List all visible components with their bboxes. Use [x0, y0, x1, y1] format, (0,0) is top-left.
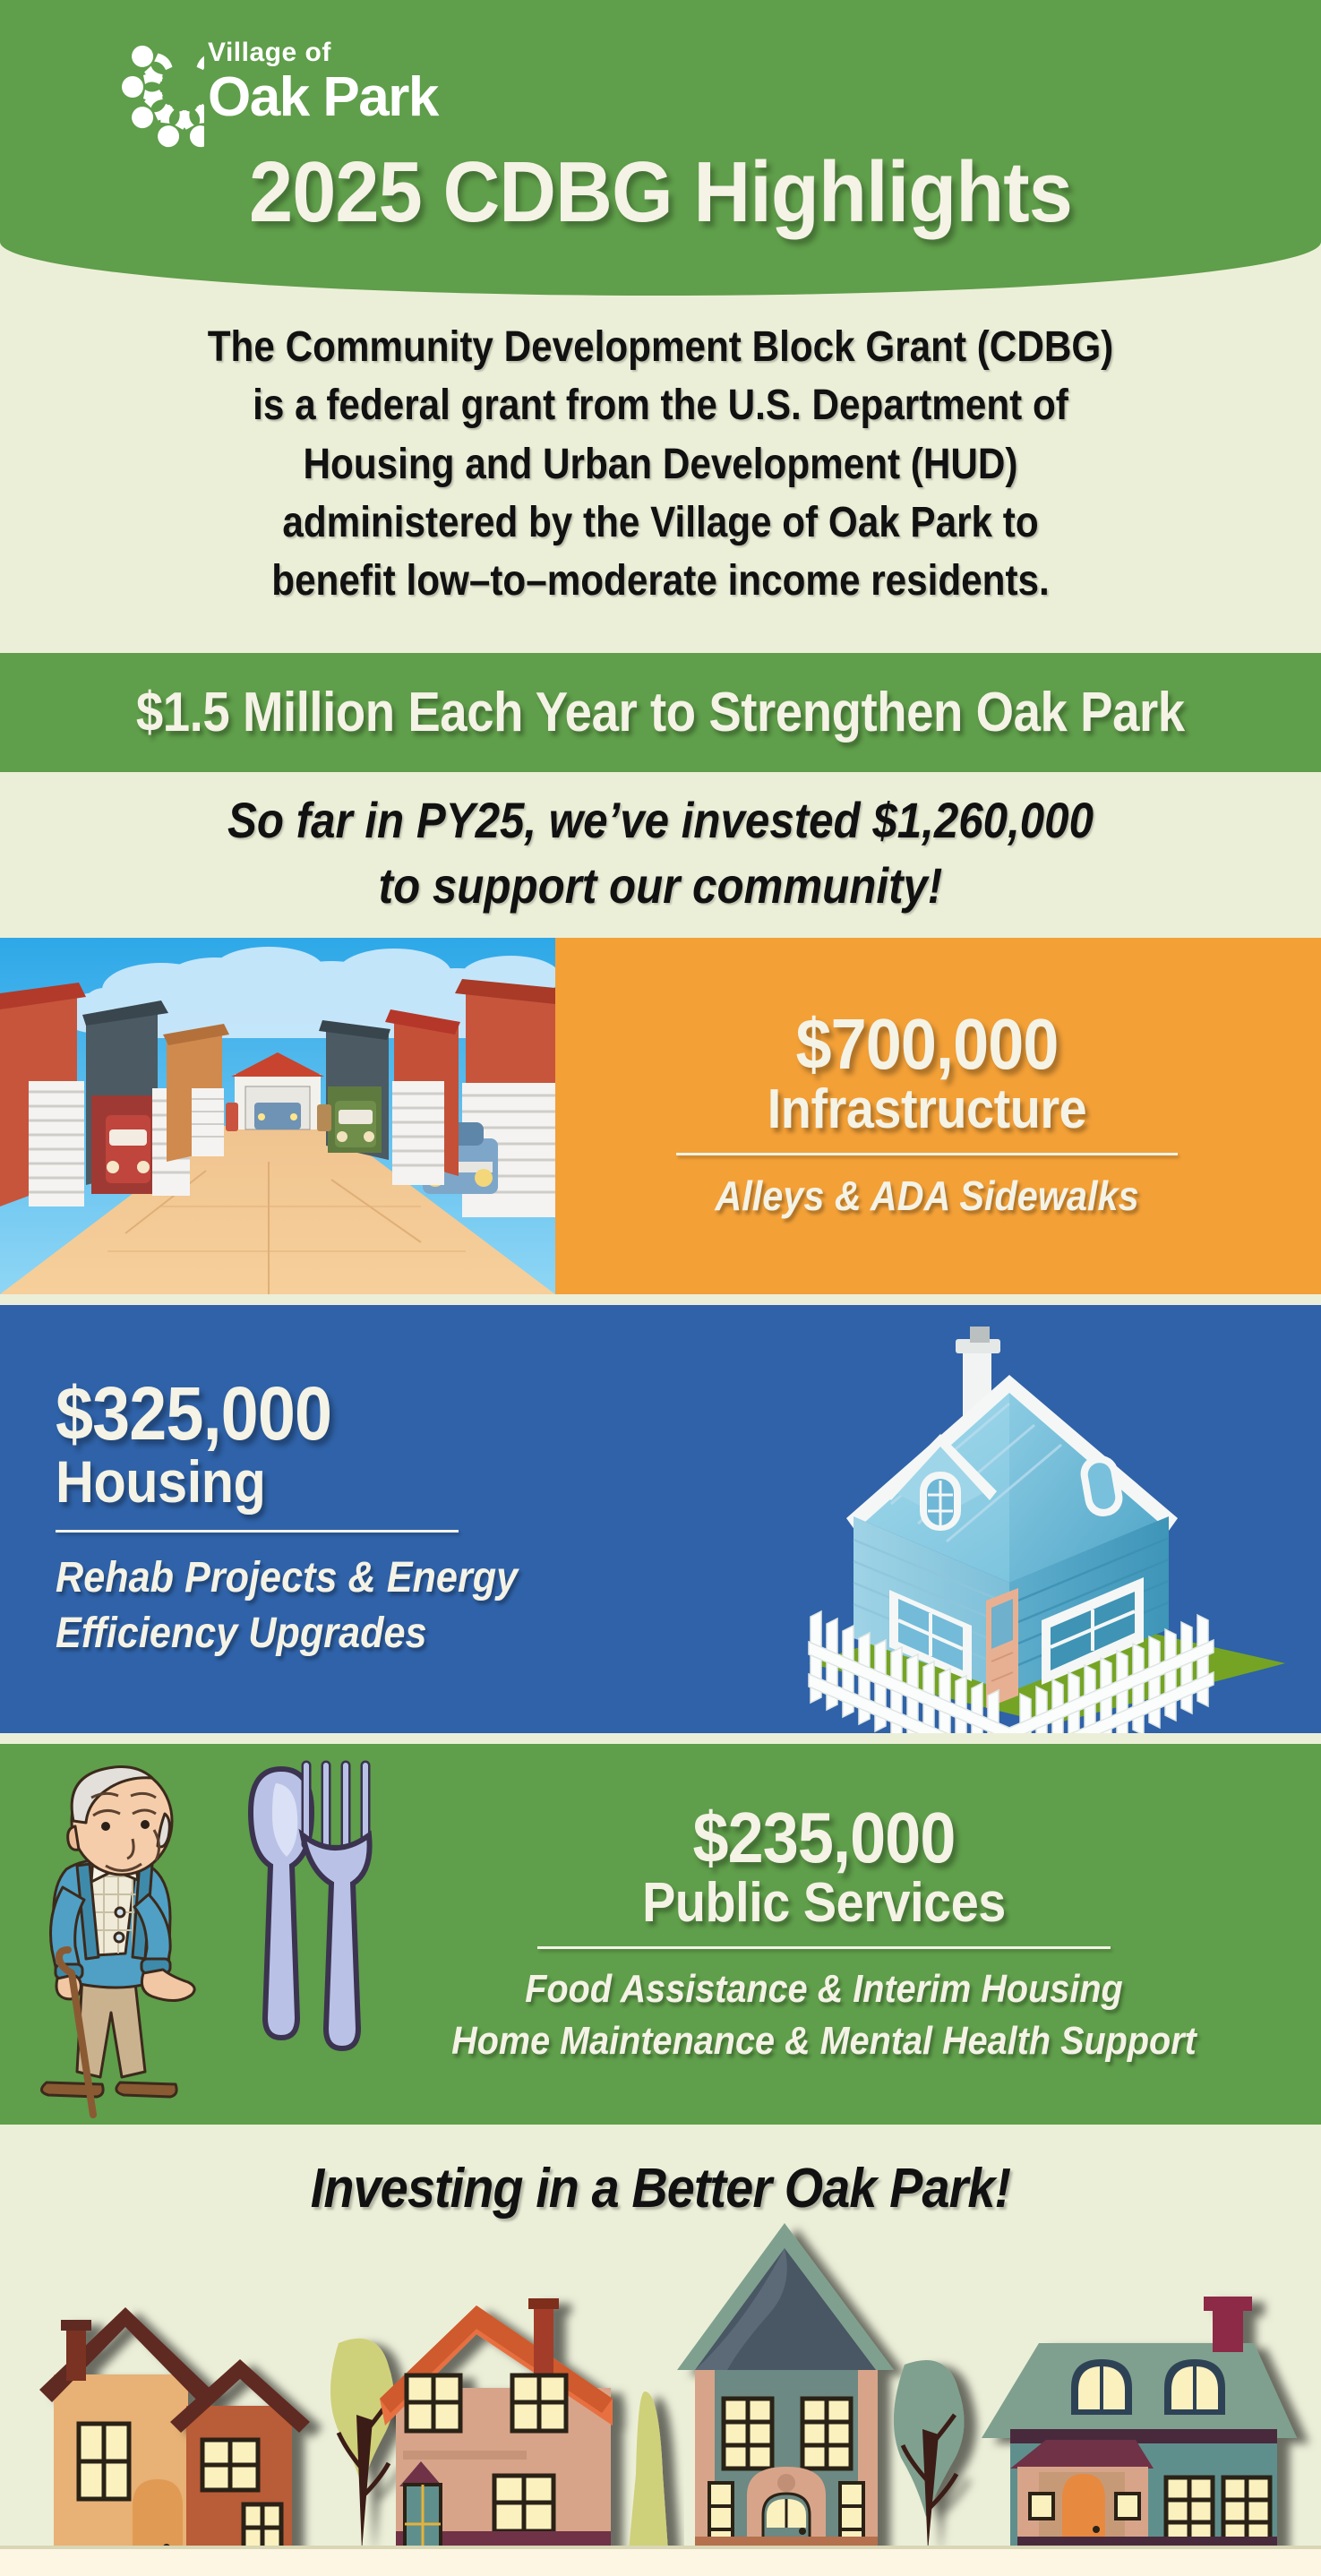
infographic-poster: Village of Oak Park 2025 CDBG Highlights… — [0, 0, 1321, 2576]
poster-header: Village of Oak Park 2025 CDBG Highlights — [0, 0, 1321, 296]
public-services-category: Public Services — [398, 1874, 1250, 1932]
stat-band-housing: $325,000 Housing Rehab Projects & Energy… — [0, 1305, 1321, 1733]
intro-line-1: The Community Development Block Grant (C… — [80, 318, 1242, 376]
housing-detail-line-1: Rehab Projects & Energy — [56, 1550, 646, 1606]
divider-rule — [537, 1946, 1111, 1949]
divider-rule — [56, 1530, 459, 1533]
subhead-line-2: to support our community! — [80, 854, 1242, 919]
intro-line-3: Housing and Urban Development (HUD) — [80, 435, 1242, 494]
infrastructure-amount: $700,000 — [593, 1009, 1260, 1080]
blue-house-picket-fence-illustration — [784, 1305, 1321, 1733]
intro-line-2: is a federal grant from the U.S. Departm… — [80, 376, 1242, 434]
subhead-line-1: So far in PY25, we’ve invested $1,260,00… — [80, 788, 1242, 854]
housing-detail-line-2: Efficiency Upgrades — [56, 1606, 646, 1662]
sunburst-people-icon — [99, 20, 204, 154]
intro-line-5: benefit low–to–moderate income residents… — [80, 552, 1242, 610]
subhead-mid: , we’ve invested — [524, 792, 872, 848]
logo-village-label: Village of — [208, 39, 438, 66]
infrastructure-category: Infrastructure — [593, 1080, 1260, 1138]
infrastructure-detail: Alleys & ADA Sidewalks — [593, 1170, 1260, 1224]
divider-rule — [676, 1153, 1178, 1155]
total-invested-amount: $1,260,000 — [872, 792, 1094, 848]
alley-garages-illustration — [0, 938, 555, 1294]
intro-paragraph: The Community Development Block Grant (C… — [80, 318, 1242, 610]
investment-subhead: So far in PY25, we’ve invested $1,260,00… — [80, 788, 1242, 919]
annual-allocation-text: $1.5 Million Each Year to Strengthen Oak… — [136, 681, 1185, 744]
neighborhood-houses-and-trees-illustration — [0, 2200, 1321, 2576]
housing-copy: $325,000 Housing Rehab Projects & Energy… — [0, 1305, 734, 1733]
annual-allocation-banner: $1.5 Million Each Year to Strengthen Oak… — [0, 653, 1321, 772]
public-services-copy: $235,000 Public Services Food Assistance… — [327, 1744, 1321, 2125]
poster-footer: Investing in a Better Oak Park! — [0, 2125, 1321, 2576]
stat-band-infrastructure: $700,000 Infrastructure Alleys & ADA Sid… — [0, 938, 1321, 1294]
public-services-detail-line-1: Food Assistance & Interim Housing — [398, 1963, 1250, 2014]
public-services-detail-line-2: Home Maintenance & Mental Health Support — [398, 2015, 1250, 2066]
housing-amount: $325,000 — [56, 1376, 646, 1451]
logo-oak-park-label: Oak Park — [208, 68, 438, 126]
public-services-amount: $235,000 — [398, 1802, 1250, 1874]
subhead-prefix: So far in — [227, 792, 416, 848]
village-of-oak-park-logo: Village of Oak Park — [99, 20, 475, 154]
program-year-label: PY25 — [416, 792, 525, 848]
housing-category: Housing — [56, 1451, 646, 1513]
infrastructure-copy: $700,000 Infrastructure Alleys & ADA Sid… — [533, 938, 1321, 1294]
logo-wordmark: Village of Oak Park — [208, 39, 438, 126]
intro-line-4: administered by the Village of Oak Park … — [80, 494, 1242, 552]
stat-band-public-services: $235,000 Public Services Food Assistance… — [0, 1744, 1321, 2125]
page-title: 2025 CDBG Highlights — [53, 143, 1268, 242]
ground-strip — [0, 2546, 1321, 2576]
